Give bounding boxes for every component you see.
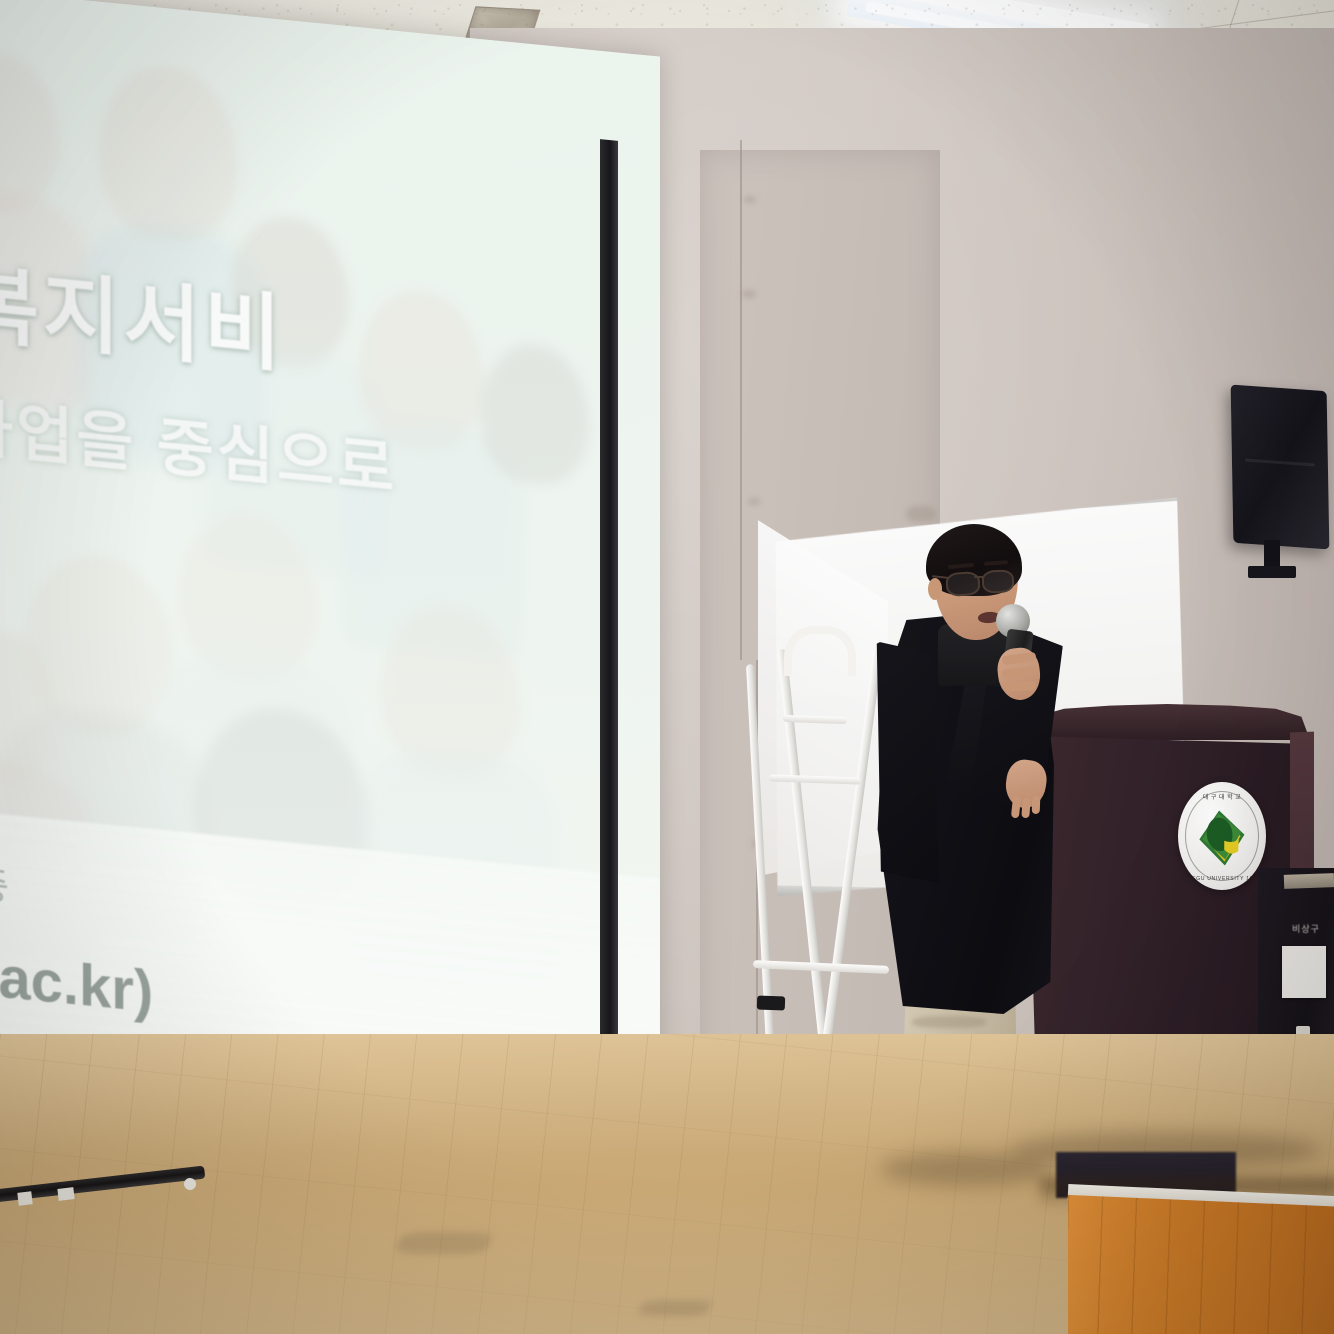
projection-screen: 복지서비 사업을 중심으로 증 a.ac.kr) 회복지학과 [0, 0, 660, 1197]
easel-clip [757, 996, 785, 1011]
wall-scuff [744, 196, 756, 203]
speaker-mount-bracket [1248, 566, 1296, 578]
easel-top-arch [784, 626, 856, 676]
projected-slide: 복지서비 사업을 중심으로 증 a.ac.kr) 회복지학과 [0, 0, 660, 1197]
bench [1068, 1192, 1334, 1334]
av-cabinet-sign [1282, 946, 1326, 998]
presenter-glasses-left-lens [945, 571, 980, 597]
wall-scuff [748, 498, 760, 505]
presenter-glasses-bridge [974, 576, 984, 578]
slide-footer-line-1: 증 [0, 853, 9, 911]
wall-seam [740, 140, 742, 660]
pointer-stick-band [17, 1191, 32, 1206]
podium-emblem: 대 구 대 학 교 DAEGU UNIVERSITY 1956 [1178, 782, 1266, 890]
presenter-glasses-right-lens [981, 569, 1014, 594]
emblem-top-text: 대 구 대 학 교 [1178, 792, 1266, 801]
wall-speaker [1231, 385, 1330, 550]
pointer-stick-band [57, 1187, 74, 1201]
wall-scuff [906, 506, 936, 522]
presenter-ear [928, 578, 942, 600]
floor-patch [394, 1232, 494, 1254]
emblem-bottom-text: DAEGU UNIVERSITY 1956 [1178, 876, 1266, 882]
wall-scuff [742, 290, 756, 298]
floor-patch [637, 1300, 713, 1316]
lecture-hall-photo: 복지서비 사업을 중심으로 증 a.ac.kr) 회복지학과 [0, 0, 1334, 1334]
av-cabinet-sign-text: 비상구 [1278, 922, 1334, 935]
av-cabinet-shelf [1284, 873, 1334, 889]
daegu-university-crest-icon [1194, 802, 1250, 874]
screen-right-border [600, 139, 618, 1131]
